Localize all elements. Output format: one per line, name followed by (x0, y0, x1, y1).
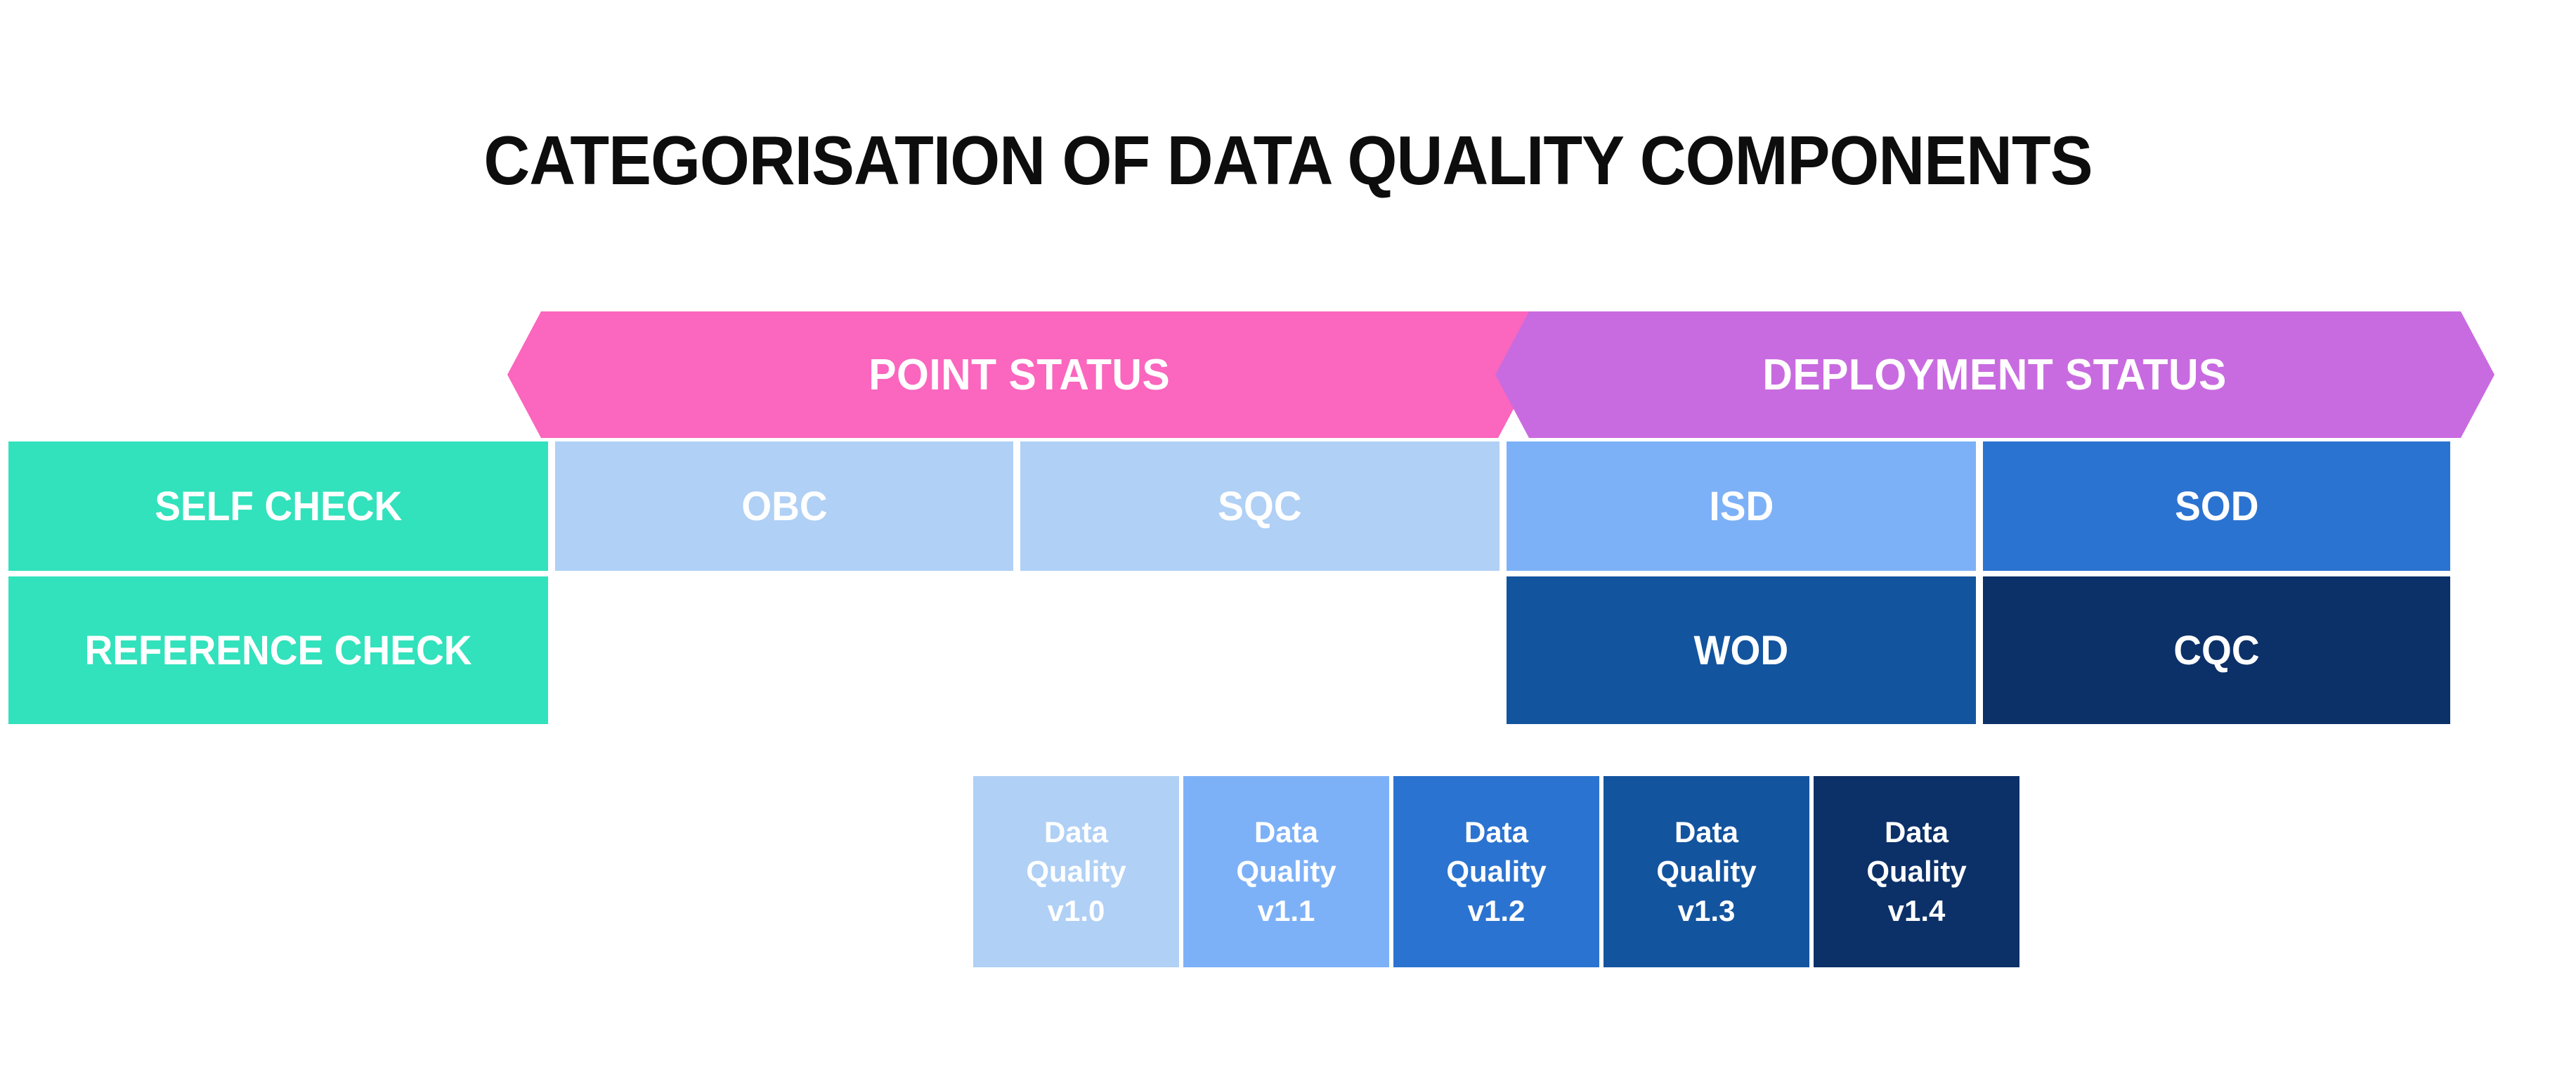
legend-item-v1-4-version: v1.4 (1888, 891, 1946, 931)
legend-item-v1-1[interactable]: Data Quality v1.1 (1183, 776, 1389, 967)
legend-item-v1-4-line2: Quality (1866, 852, 1966, 891)
cell-isd[interactable]: ISD (1507, 441, 1976, 571)
legend-item-v1-0-version: v1.0 (1048, 891, 1105, 931)
page-title: CATEGORISATION OF DATA QUALITY COMPONENT… (90, 121, 2485, 200)
legend-item-v1-2-version: v1.2 (1468, 891, 1526, 931)
legend-item-v1-1-version: v1.1 (1258, 891, 1315, 931)
cell-sqc-label: SQC (1218, 483, 1301, 530)
legend-item-v1-3[interactable]: Data Quality v1.3 (1604, 776, 1809, 967)
legend-item-v1-3-line2: Quality (1656, 852, 1756, 891)
legend-item-v1-4[interactable]: Data Quality v1.4 (1814, 776, 2019, 967)
legend-item-v1-2-line2: Quality (1446, 852, 1546, 891)
legend-item-v1-3-line1: Data (1674, 813, 1738, 852)
legend-item-v1-2[interactable]: Data Quality v1.2 (1393, 776, 1599, 967)
legend-item-v1-1-line1: Data (1254, 813, 1318, 852)
cell-cqc-label: CQC (2173, 627, 2259, 674)
status-banner-row: POINT STATUS DEPLOYMENT STATUS (0, 311, 2576, 438)
cell-obc-label: OBC (741, 483, 827, 530)
banner-deployment-status[interactable]: DEPLOYMENT STATUS (1495, 311, 2494, 438)
legend-item-v1-1-line2: Quality (1236, 852, 1336, 891)
legend-item-v1-0-line2: Quality (1026, 852, 1126, 891)
banner-deployment-status-label: DEPLOYMENT STATUS (1763, 350, 2227, 400)
legend-item-v1-2-line1: Data (1464, 813, 1528, 852)
cell-isd-label: ISD (1709, 483, 1774, 530)
legend-item-v1-0[interactable]: Data Quality v1.0 (973, 776, 1179, 967)
cell-wod-label: WOD (1694, 627, 1789, 674)
row-header-reference-check-label: REFERENCE CHECK (84, 627, 471, 674)
legend-item-v1-0-line1: Data (1044, 813, 1108, 852)
cell-sod[interactable]: SOD (1983, 441, 2450, 571)
cell-cqc[interactable]: CQC (1983, 576, 2450, 724)
cell-sod-label: SOD (2175, 483, 2258, 530)
row-header-self-check[interactable]: SELF CHECK (8, 441, 548, 571)
legend-item-v1-4-line1: Data (1885, 813, 1949, 852)
cell-obc[interactable]: OBC (555, 441, 1013, 571)
row-header-reference-check[interactable]: REFERENCE CHECK (8, 576, 548, 724)
legend-item-v1-3-version: v1.3 (1678, 891, 1736, 931)
row-header-self-check-label: SELF CHECK (155, 483, 402, 530)
banner-point-status-label: POINT STATUS (869, 350, 1171, 400)
banner-point-status[interactable]: POINT STATUS (507, 311, 1532, 438)
version-legend: Data Quality v1.0 Data Quality v1.1 Data… (973, 776, 2019, 967)
cell-sqc[interactable]: SQC (1020, 441, 1500, 571)
cell-wod[interactable]: WOD (1507, 576, 1976, 724)
